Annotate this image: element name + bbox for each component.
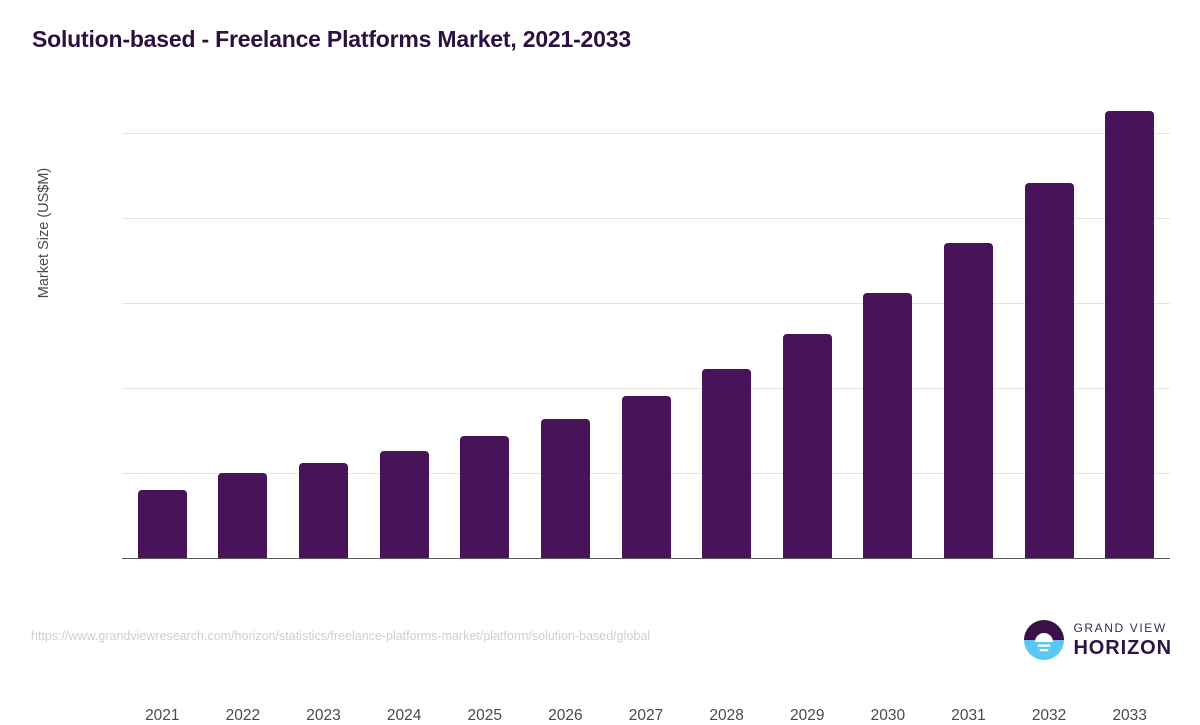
grand-view-horizon-logo[interactable]: GRAND VIEW HORIZON [1024,620,1172,660]
logo-line-grand-view: GRAND VIEW [1073,622,1172,634]
x-axis-tick-label: 2030 [843,707,933,725]
logo-wordmark: GRAND VIEW HORIZON [1073,622,1172,658]
bar-2023[interactable] [299,463,348,558]
logo-line-horizon: HORIZON [1073,638,1172,658]
x-axis-tick-label: 2021 [117,707,207,725]
bar-series [122,133,1170,558]
x-axis-tick-label: 2024 [359,707,449,725]
bar-2033[interactable] [1105,111,1154,558]
bar-2021[interactable] [138,490,187,558]
chart-page: Solution-based - Freelance Platforms Mar… [0,0,1200,675]
x-axis-tick-label: 2032 [1004,707,1094,725]
bar-2030[interactable] [863,293,912,558]
x-axis-tick-label: 2027 [601,707,691,725]
source-url[interactable]: https://www.grandviewresearch.com/horizo… [31,629,650,643]
x-axis-tick-label: 2023 [279,707,369,725]
x-axis-tick-label: 2031 [923,707,1013,725]
x-axis-tick-label: 2028 [682,707,772,725]
bar-2032[interactable] [1025,183,1074,558]
x-axis-tick-label: 2025 [440,707,530,725]
y-axis-title: Market Size (US$M) [36,123,52,343]
bar-2028[interactable] [702,369,751,558]
plot-area: 05001000150020002500 2021202220232024202… [122,133,1170,558]
x-axis-tick-label: 2026 [520,707,610,725]
bar-2022[interactable] [218,473,267,558]
page-title: Solution-based - Freelance Platforms Mar… [32,26,631,53]
bar-2026[interactable] [541,419,590,558]
bar-2029[interactable] [783,334,832,558]
bar-2024[interactable] [380,451,429,558]
bar-2025[interactable] [460,436,509,558]
x-axis-tick-label: 2033 [1085,707,1175,725]
x-axis-tick-label: 2022 [198,707,288,725]
horizon-logo-icon [1024,620,1064,660]
bar-2031[interactable] [944,243,993,558]
x-axis-tick-label: 2029 [762,707,852,725]
gridline [122,558,1170,559]
bar-2027[interactable] [622,396,671,558]
